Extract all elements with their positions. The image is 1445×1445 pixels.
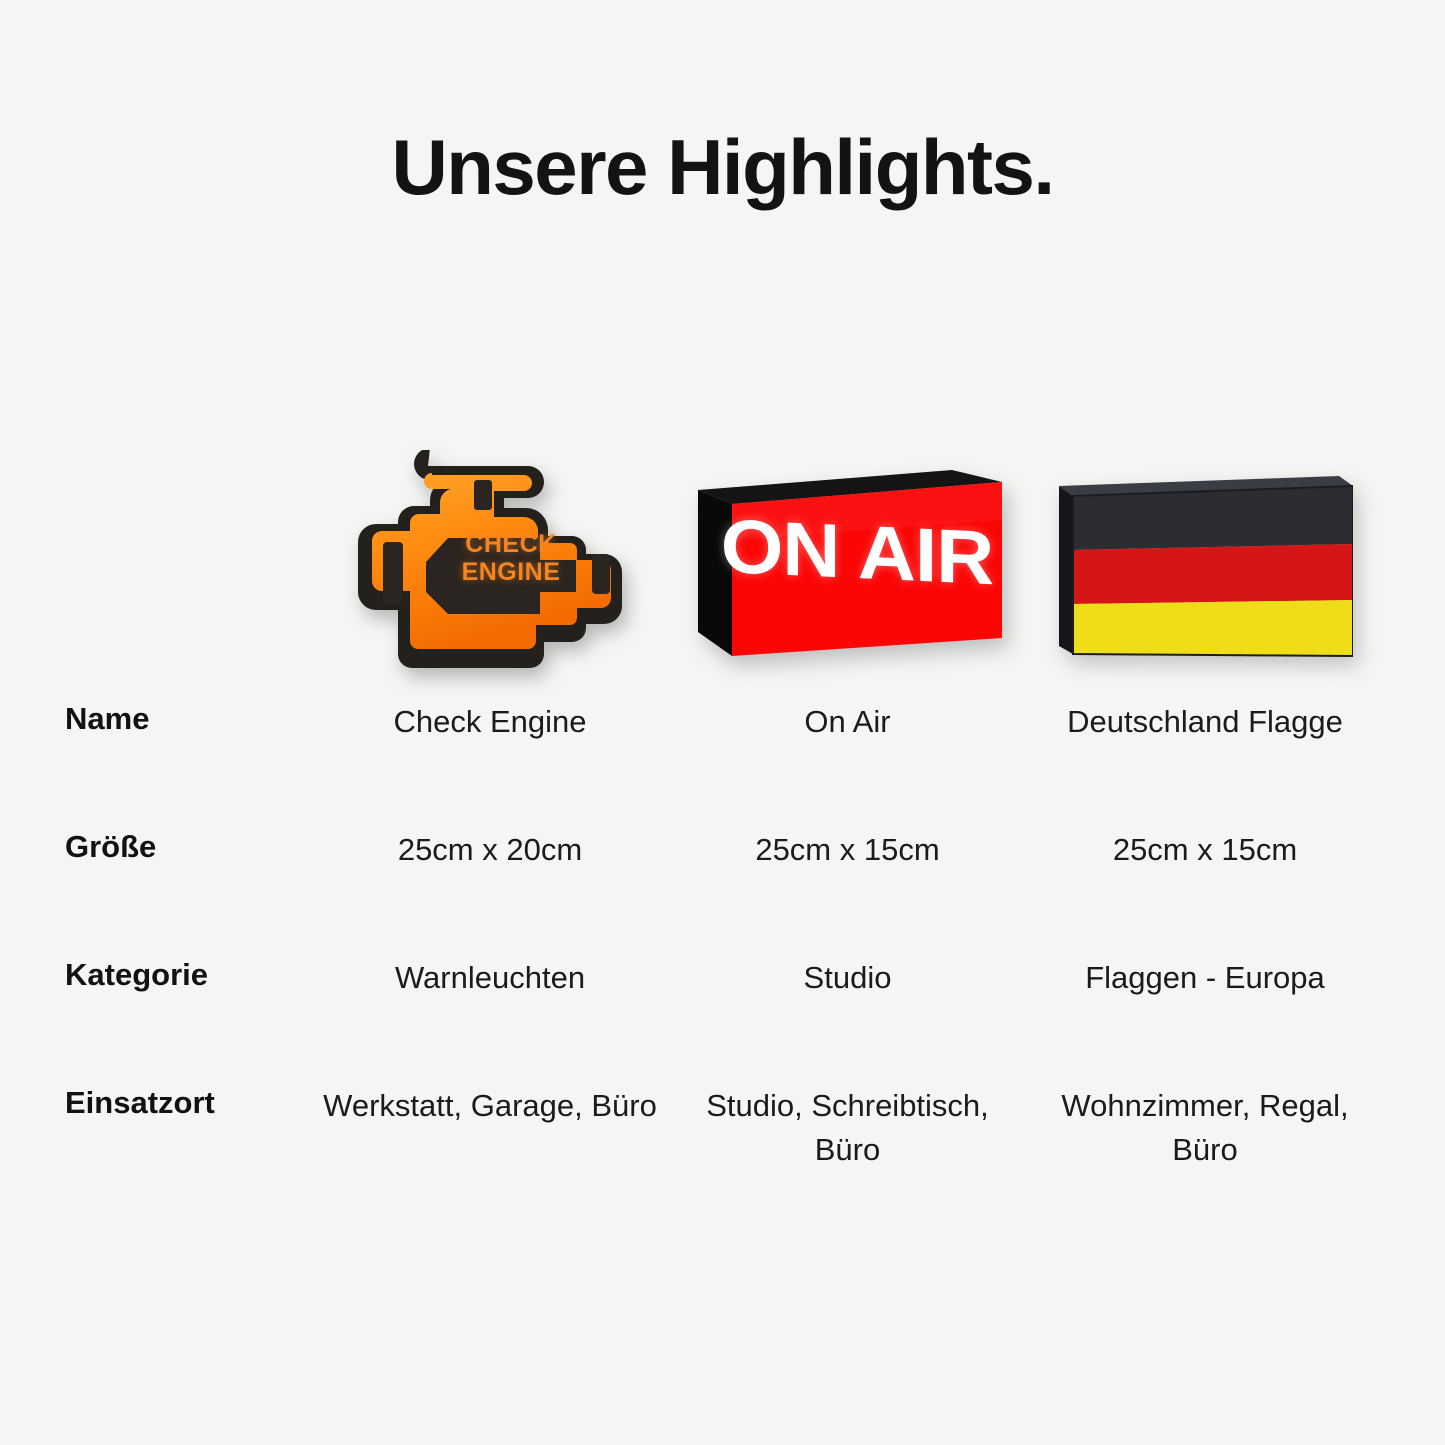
spec-value-name-on-air: On Air xyxy=(670,700,1025,744)
on-air-light-box-icon: ON AIR xyxy=(684,460,1002,668)
spec-label-kategorie: Kategorie xyxy=(0,956,310,995)
spec-value-einsatzort-on-air: Studio, Schreibtisch, Büro xyxy=(670,1084,1025,1172)
spec-value-kategorie-check-engine: Warnleuchten xyxy=(310,956,670,1000)
spec-label-einsatzort: Einsatzort xyxy=(0,1084,310,1123)
spec-value-einsatzort-deutschland-flagge: Wohnzimmer, Regal, Büro xyxy=(1025,1084,1385,1172)
spec-value-groesse-check-engine: 25cm x 20cm xyxy=(310,828,670,872)
table-row: Name Check Engine On Air Deutschland Fla… xyxy=(0,700,1445,828)
spec-value-kategorie-deutschland-flagge: Flaggen - Europa xyxy=(1025,956,1385,1000)
germany-flag-light-box-icon xyxy=(1047,468,1353,668)
spec-label-name: Name xyxy=(0,700,310,739)
product-image-row: CHECK ENGINE ON AIR xyxy=(0,408,1445,668)
check-engine-shape-icon xyxy=(340,450,640,668)
spec-value-name-check-engine: Check Engine xyxy=(310,700,670,744)
spec-value-groesse-on-air: 25cm x 15cm xyxy=(670,828,1025,872)
spec-label-groesse: Größe xyxy=(0,828,310,867)
table-row: Größe 25cm x 20cm 25cm x 15cm 25cm x 15c… xyxy=(0,828,1445,956)
spec-value-groesse-deutschland-flagge: 25cm x 15cm xyxy=(1025,828,1385,872)
table-row: Einsatzort Werkstatt, Garage, Büro Studi… xyxy=(0,1084,1445,1234)
product-image-on-air[interactable]: ON AIR xyxy=(665,408,1020,668)
spec-table: Name Check Engine On Air Deutschland Fla… xyxy=(0,700,1445,1234)
check-engine-lamp-icon: CHECK ENGINE xyxy=(340,450,640,668)
product-image-check-engine[interactable]: CHECK ENGINE xyxy=(310,408,670,668)
germany-flag-box-shape-icon xyxy=(1047,468,1353,668)
table-row: Kategorie Warnleuchten Studio Flaggen - … xyxy=(0,956,1445,1084)
highlights-page: Unsere Highlights. xyxy=(0,0,1445,1445)
product-image-deutschland-flagge[interactable] xyxy=(1020,408,1380,668)
spec-value-einsatzort-check-engine: Werkstatt, Garage, Büro xyxy=(310,1084,670,1128)
spec-value-name-deutschland-flagge: Deutschland Flagge xyxy=(1025,700,1385,744)
page-title: Unsere Highlights. xyxy=(0,128,1445,206)
on-air-box-shape-icon xyxy=(684,460,1002,668)
spec-value-kategorie-on-air: Studio xyxy=(670,956,1025,1000)
